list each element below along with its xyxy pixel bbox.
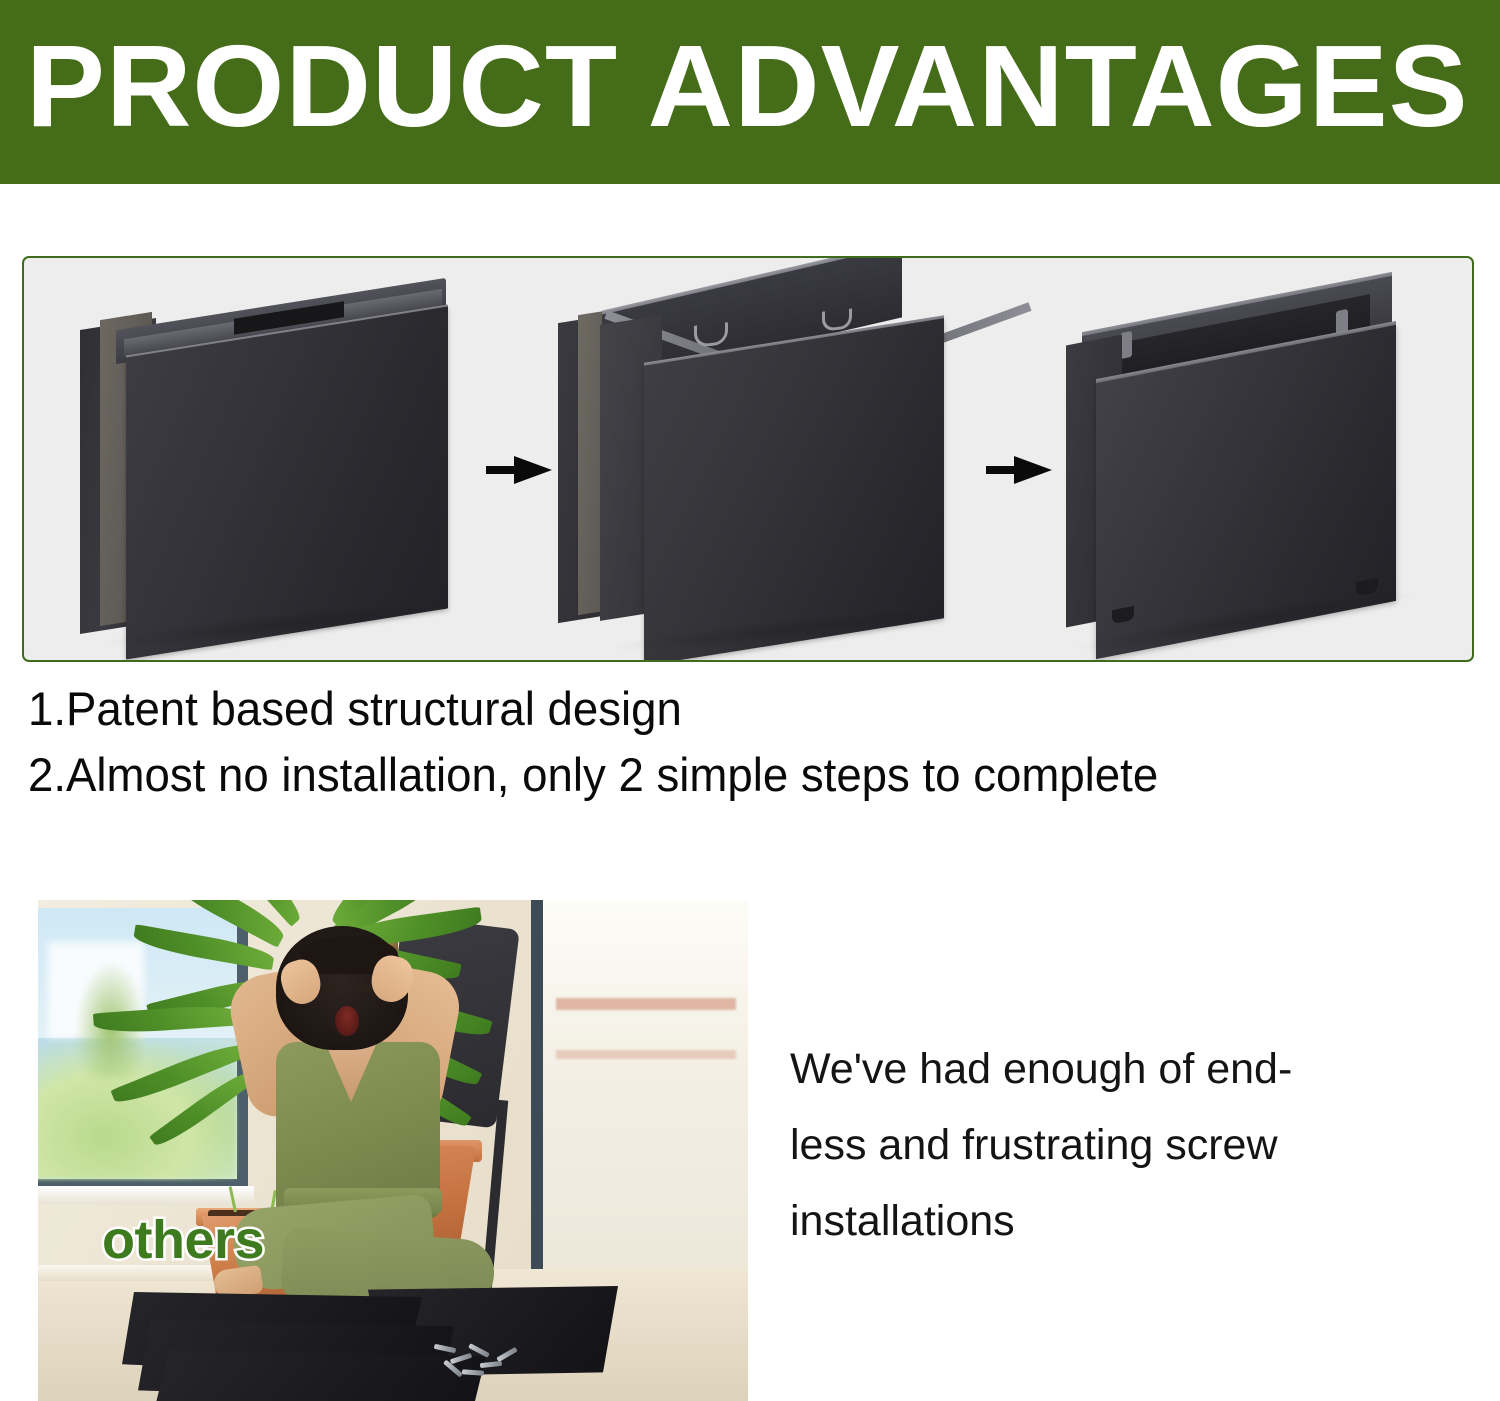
photo-balcony — [538, 900, 748, 1330]
feature-item: 2.Almost no installation, only 2 simple … — [28, 742, 1158, 808]
photo-balcony-railing — [556, 1050, 736, 1059]
page-title: PRODUCT ADVANTAGES — [26, 26, 1469, 146]
assembly-steps-panel — [22, 256, 1474, 662]
photo-balcony-railing — [556, 998, 736, 1010]
pain-point-line: installations — [790, 1183, 1390, 1259]
feature-item: 1.Patent based structural design — [28, 676, 1158, 742]
assembly-step-2-unfolding — [544, 258, 964, 660]
feature-list: 1.Patent based structural design 2.Almos… — [28, 676, 1193, 808]
pain-point-line: less and frustrating screw — [790, 1107, 1390, 1183]
assembly-step-3-assembled — [1034, 258, 1454, 660]
assembly-step-1-folded — [64, 258, 484, 660]
lifestyle-photo — [38, 900, 748, 1401]
photo-flat-panel — [156, 1350, 486, 1401]
header-banner: PRODUCT ADVANTAGES — [0, 0, 1500, 184]
photo-woman-eye — [324, 984, 337, 992]
photo-woman-mouth — [335, 1006, 359, 1036]
photo-woman-eye — [358, 984, 371, 992]
pain-point-line: We've had enough of end- — [790, 1031, 1390, 1107]
others-label: others — [102, 1209, 264, 1271]
pain-point-text: We've had enough of end- less and frustr… — [790, 1031, 1390, 1259]
right-arrow-icon — [486, 454, 552, 486]
right-arrow-icon — [986, 454, 1052, 486]
photo-window-sill — [38, 1186, 254, 1204]
